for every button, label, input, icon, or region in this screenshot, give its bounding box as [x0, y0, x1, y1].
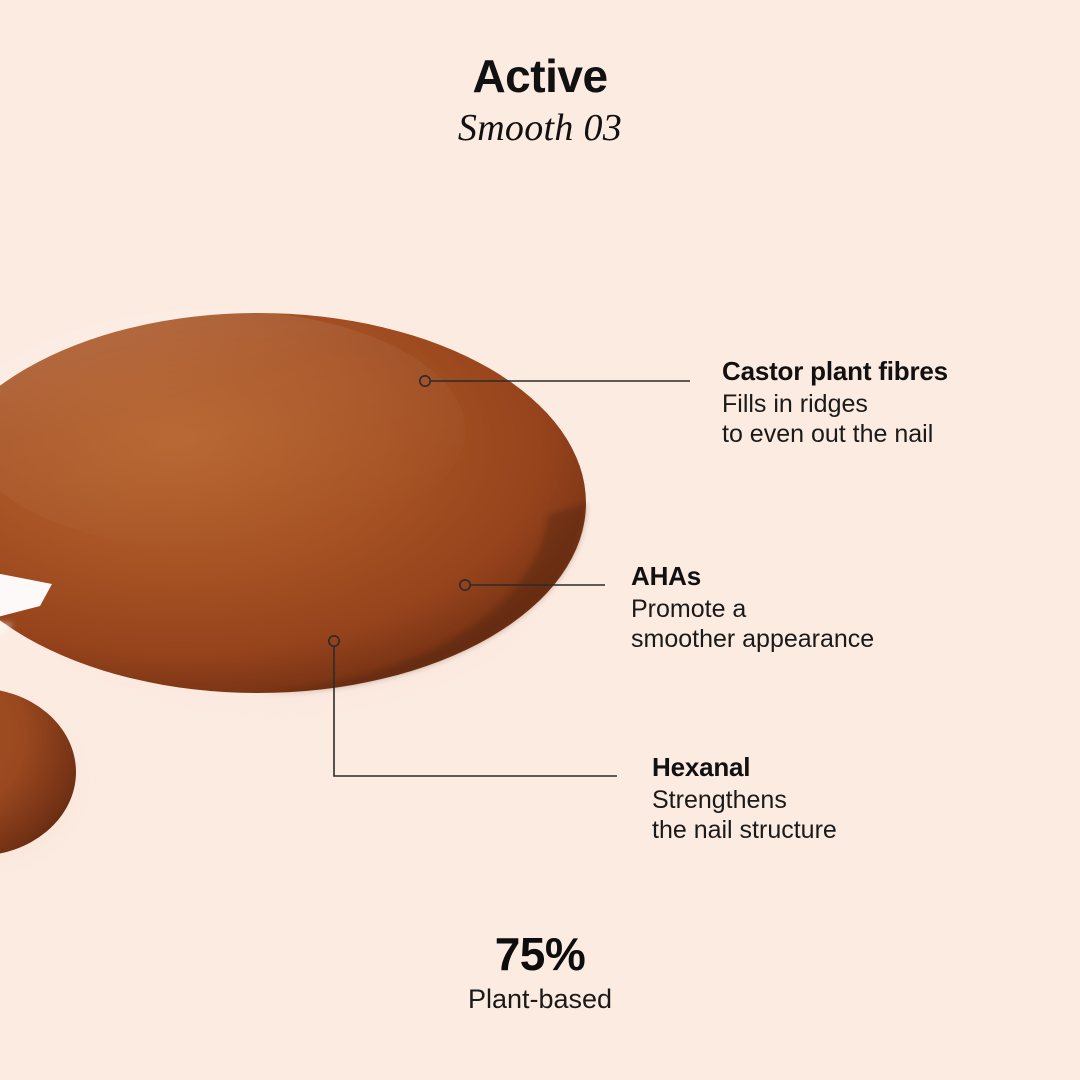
leader-lines	[0, 0, 1080, 1080]
leader-marker-castor	[420, 376, 430, 386]
callout-hexanal-description: Strengthens the nail structure	[652, 785, 837, 846]
callout-castor-description: Fills in ridges to even out the nail	[722, 389, 948, 450]
stat-label: Plant-based	[0, 983, 1080, 1015]
callout-hexanal: Hexanal Strengthens the nail structure	[652, 752, 837, 846]
leader-line-ahas	[460, 580, 605, 590]
footer-stat: 75% Plant-based	[0, 930, 1080, 1015]
product-ingredient-infographic: Active Smooth 03 Castor plant fibres Fil…	[0, 0, 1080, 1080]
callout-castor: Castor plant fibres Fills in ridges to e…	[722, 356, 948, 450]
stat-value: 75%	[0, 930, 1080, 980]
callout-hexanal-name: Hexanal	[652, 752, 837, 783]
callout-ahas-description: Promote a smoother appearance	[631, 594, 874, 655]
callout-ahas: AHAs Promote a smoother appearance	[631, 561, 874, 655]
leader-marker-ahas	[460, 580, 470, 590]
leader-line-hexanal	[329, 636, 617, 776]
callout-castor-name: Castor plant fibres	[722, 356, 948, 387]
leader-line-castor	[420, 376, 690, 386]
callout-ahas-name: AHAs	[631, 561, 874, 592]
leader-marker-hexanal	[329, 636, 339, 646]
